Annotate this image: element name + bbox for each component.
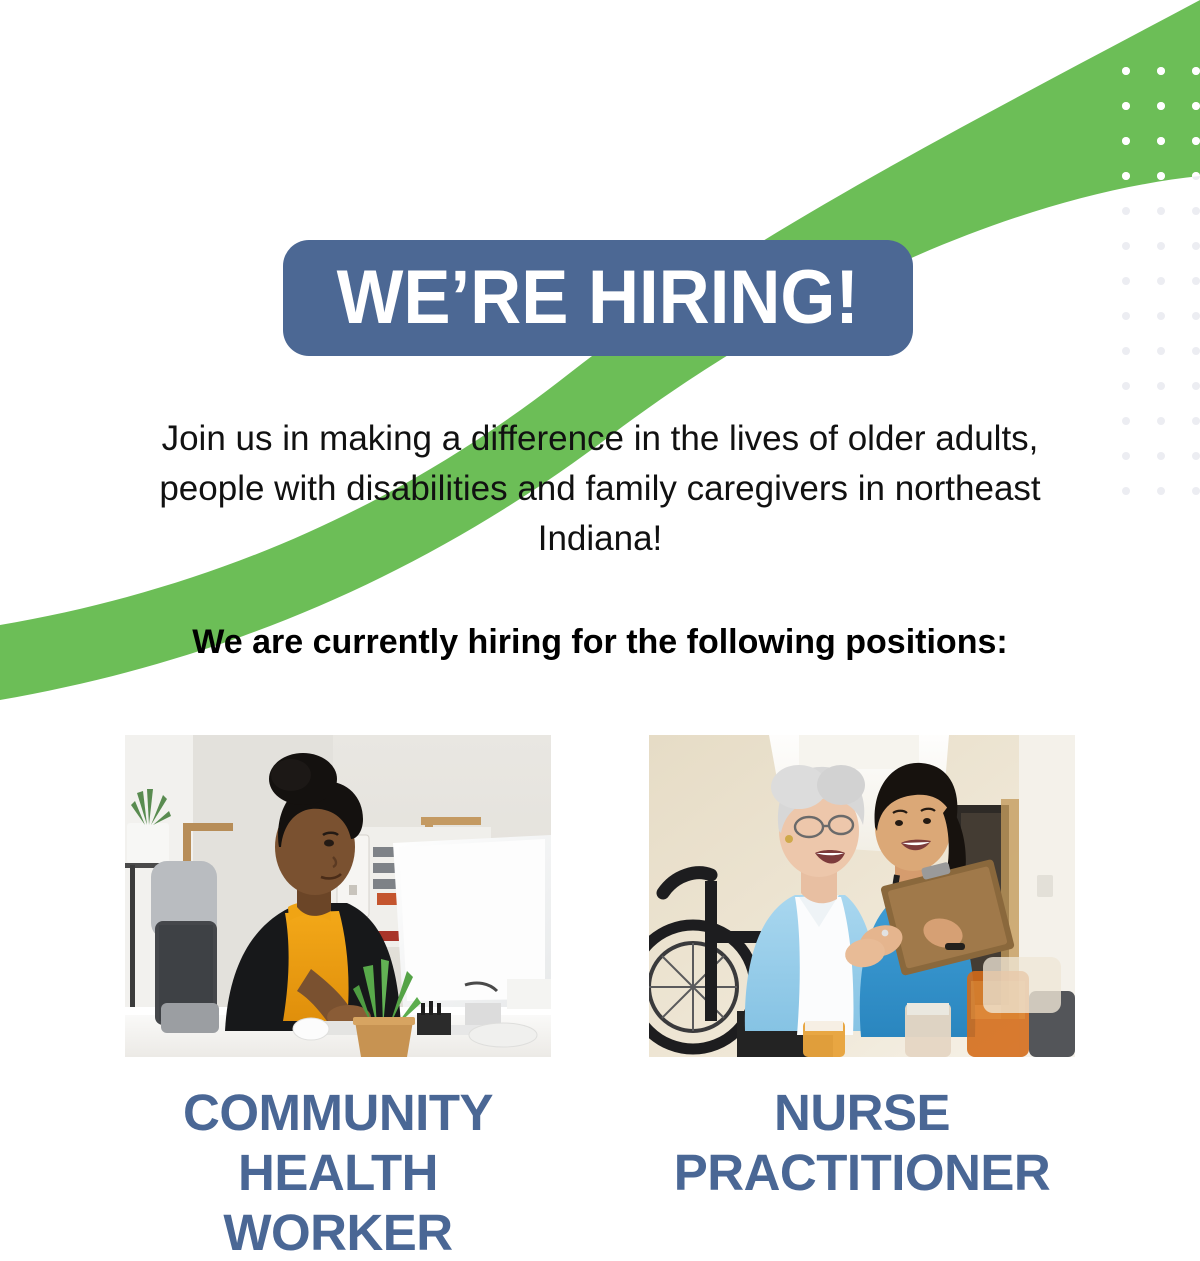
positions-subheading: We are currently hiring for the followin…	[100, 620, 1100, 664]
hiring-flyer: WE’RE HIRING! Join us in making a differ…	[0, 0, 1200, 1261]
photo-nurse-practitioner	[649, 735, 1075, 1057]
positions-row: COMMUNITY HEALTH WORKER	[0, 735, 1200, 1261]
photo-community-health-worker	[125, 735, 551, 1057]
position-card-community-health-worker: COMMUNITY HEALTH WORKER	[125, 735, 551, 1261]
position-card-nurse-practitioner: NURSE PRACTITIONER	[649, 735, 1075, 1261]
position-title: NURSE PRACTITIONER	[674, 1083, 1051, 1203]
headline-text: WE’RE HIRING!	[337, 260, 859, 336]
headline-banner: WE’RE HIRING!	[283, 240, 913, 356]
position-title: COMMUNITY HEALTH WORKER	[125, 1083, 551, 1261]
intro-paragraph: Join us in making a difference in the li…	[110, 414, 1090, 564]
